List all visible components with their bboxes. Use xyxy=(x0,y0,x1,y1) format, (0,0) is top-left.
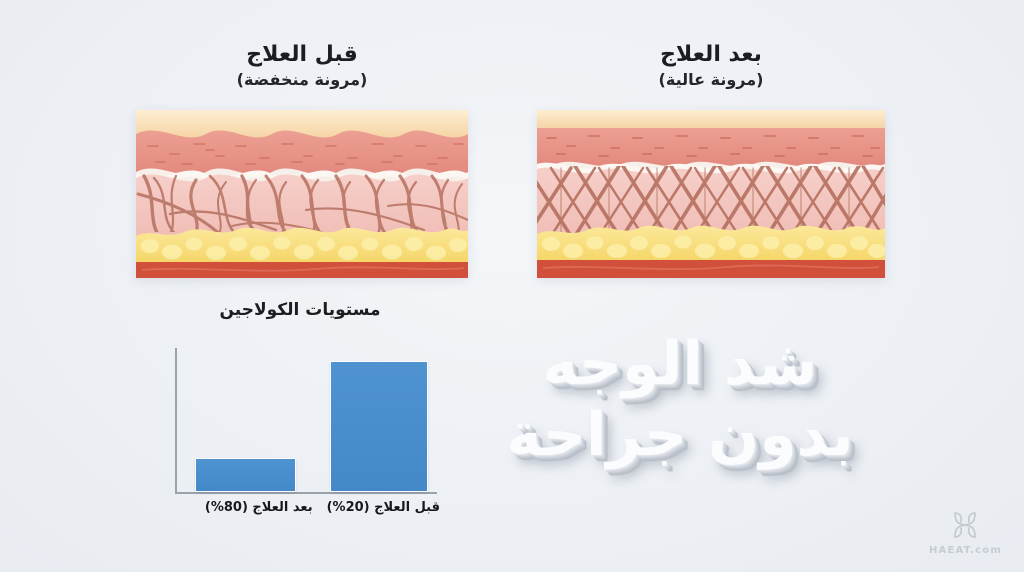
chart-plot-area xyxy=(175,348,450,494)
chart-y-axis xyxy=(175,348,177,494)
panel-title-before-sub: (مرونة منخفضة) xyxy=(136,71,468,90)
panel-title-before-main: قبل العلاج xyxy=(136,42,468,68)
skin-after-svg xyxy=(537,110,885,278)
headline: شد الوجه بدون جراحة xyxy=(470,332,890,468)
watermark: HAEAT.com xyxy=(929,508,1002,556)
skin-diagram-after xyxy=(537,110,885,278)
x-label-after: بعد العلاج (80%) xyxy=(205,500,313,515)
infographic-canvas: قبل العلاج (مرونة منخفضة) بعد العلاج (مر… xyxy=(0,0,1024,572)
panel-title-after: بعد العلاج (مرونة عالية) xyxy=(537,42,885,90)
headline-line-2: بدون جراحة xyxy=(470,403,890,468)
panel-title-after-main: بعد العلاج xyxy=(537,42,885,68)
collagen-levels-chart: مستويات الكولاجين قبل العلاج (20%) بعد ا… xyxy=(150,300,480,535)
chart-title: مستويات الكولاجين xyxy=(150,300,450,320)
bar-after-treatment[interactable] xyxy=(330,361,428,492)
chart-x-tick-labels: قبل العلاج (20%) بعد العلاج (80%) xyxy=(150,500,440,515)
panel-title-before: قبل العلاج (مرونة منخفضة) xyxy=(136,42,468,90)
headline-line-1: شد الوجه xyxy=(470,332,890,397)
x-label-before: قبل العلاج (20%) xyxy=(327,500,440,515)
haeat-h-logo-icon xyxy=(948,508,982,542)
skin-before-svg xyxy=(136,110,468,278)
panel-title-after-sub: (مرونة عالية) xyxy=(537,71,885,90)
bar-before-treatment[interactable] xyxy=(195,458,296,492)
chart-x-axis xyxy=(175,492,437,494)
watermark-text: HAEAT.com xyxy=(929,545,1002,556)
skin-diagram-before xyxy=(136,110,468,278)
